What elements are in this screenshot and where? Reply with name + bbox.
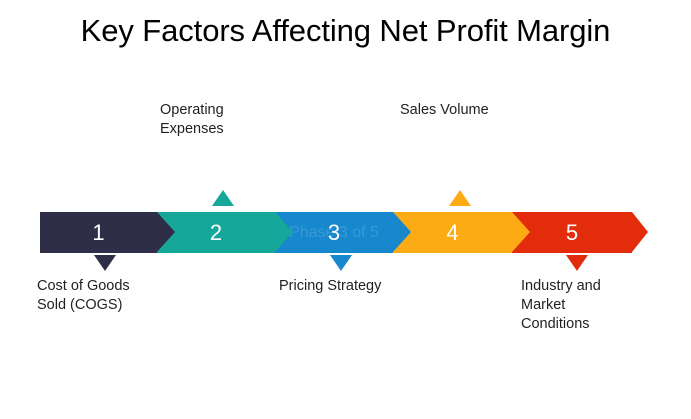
chevron-arrow-point-5 — [632, 212, 648, 252]
process-label-step-2: Operating Expenses — [160, 101, 290, 139]
slide-canvas: Key Factors Affecting Net Profit Margin … — [0, 0, 691, 419]
triangle-down-marker-step-3 — [330, 255, 352, 271]
triangle-down-marker-step-5 — [566, 255, 588, 271]
triangle-down-marker-step-1 — [94, 255, 116, 271]
page-title: Key Factors Affecting Net Profit Margin — [0, 12, 691, 50]
process-label-step-4: Sales Volume — [400, 101, 540, 120]
chevron-arrow-point-2 — [275, 212, 293, 252]
chevron-arrow-point-4 — [512, 212, 530, 252]
chevron-arrow-point-1 — [157, 212, 175, 252]
chevron-arrow-point-3 — [393, 212, 411, 252]
process-label-step-5: Industry and Market Conditions — [521, 277, 661, 334]
process-step-number-1: 1 — [40, 212, 157, 253]
process-step-1[interactable]: 1 — [40, 212, 157, 253]
process-label-step-3: Pricing Strategy — [279, 277, 429, 296]
triangle-up-marker-step-4 — [449, 190, 471, 206]
process-label-step-1: Cost of Goods Sold (COGS) — [37, 277, 187, 315]
process-step-5[interactable]: 5 — [512, 212, 632, 253]
triangle-up-marker-step-2 — [212, 190, 234, 206]
process-chevron-bar: 1 2 Phase 3 of 5 3 4 5 — [40, 212, 648, 253]
process-step-number-5: 5 — [512, 212, 632, 253]
